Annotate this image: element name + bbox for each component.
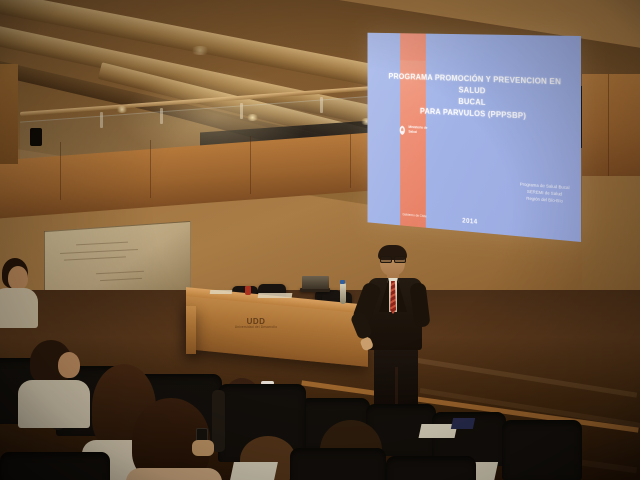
ceiling-spot-2 xyxy=(246,114,259,121)
notebook xyxy=(451,418,475,429)
bottle-cap xyxy=(340,280,345,284)
presenter-tie xyxy=(390,281,396,314)
seat-row-front xyxy=(290,448,386,480)
audience-torso xyxy=(0,288,38,328)
slide-accent-bar-top xyxy=(400,33,425,61)
ceiling-spot-5 xyxy=(190,46,210,55)
rail-post-1 xyxy=(100,112,103,128)
audience-torso xyxy=(18,380,90,428)
wood-seam xyxy=(60,142,61,200)
presenter xyxy=(352,247,438,419)
wood-seam xyxy=(350,130,351,188)
wood-seam xyxy=(608,74,609,178)
wood-seam xyxy=(250,136,251,194)
wood-seam xyxy=(150,140,151,198)
lecture-hall-photo: PROGRAMA PROMOCIÓN Y PREVENCION EN SALUD… xyxy=(0,0,640,480)
speaker-desk-side xyxy=(186,306,196,354)
seat-row-front xyxy=(386,456,476,480)
laptop-screen xyxy=(302,276,329,289)
slide-credits: Programa de Salud Bucal SEREMI de Salud … xyxy=(520,182,570,205)
notebook xyxy=(230,462,278,480)
audience-torso xyxy=(126,468,222,480)
left-wood-column xyxy=(0,64,18,164)
balcony-wood-panel-right xyxy=(582,74,640,178)
glasses-lens-right xyxy=(394,256,406,263)
desk-papers xyxy=(210,290,233,294)
university-crest: UDD Universidad del Desarrollo xyxy=(226,318,286,329)
rail-post-4 xyxy=(320,97,323,113)
glasses-icon xyxy=(380,256,405,261)
red-cup xyxy=(245,286,251,295)
desk-papers xyxy=(258,293,293,298)
water-bottle xyxy=(340,283,346,304)
presentation-slide: PROGRAMA PROMOCIÓN Y PREVENCION EN SALUD… xyxy=(368,33,581,242)
glasses-lens-left xyxy=(380,256,392,263)
ceiling-spot-1 xyxy=(116,106,128,113)
seat-armrest xyxy=(212,390,225,452)
university-crest-sub: Universidad del Desarrollo xyxy=(226,326,286,329)
ministry-logo-line-2: Salud xyxy=(408,130,416,134)
slide-title: PROGRAMA PROMOCIÓN Y PREVENCION EN SALUD… xyxy=(383,71,567,124)
presenter-leg-gap xyxy=(395,367,398,407)
ministry-logo-text: Ministerio de Salud xyxy=(408,125,427,134)
wall-speaker xyxy=(30,128,42,146)
audience-head xyxy=(8,266,28,290)
audience-hand xyxy=(192,440,214,456)
seat-row-front xyxy=(0,452,110,480)
chile-emblem-icon xyxy=(397,123,406,135)
seat-row-far xyxy=(502,420,582,480)
ministry-logo: Ministerio de Salud xyxy=(397,123,427,136)
projection-screen: PROGRAMA PROMOCIÓN Y PREVENCION EN SALUD… xyxy=(368,33,581,242)
audience-head xyxy=(58,352,80,378)
